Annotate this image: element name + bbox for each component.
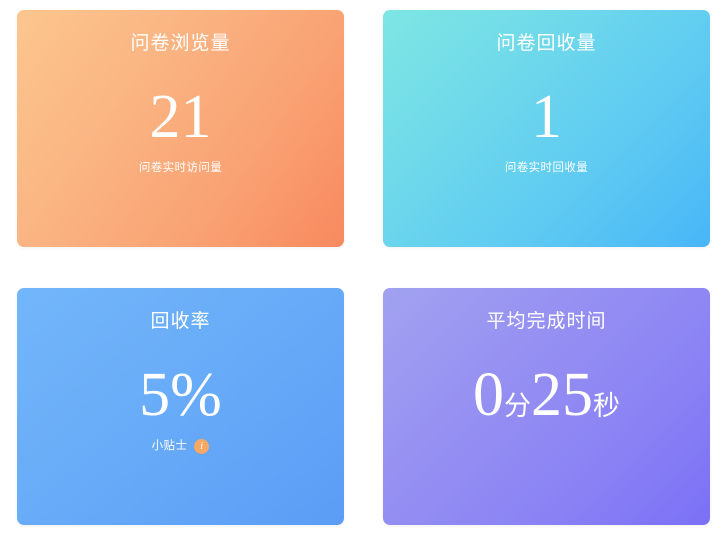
card-unit-seconds: 秒	[593, 391, 620, 421]
card-value-primary: 21	[150, 83, 212, 151]
card-footer: 小贴士 i	[152, 438, 210, 454]
card-title: 平均完成时间	[486, 310, 606, 334]
card-body: 1 问卷实时回收量	[505, 84, 588, 176]
card-footer-label: 问卷实时访问量	[139, 160, 222, 176]
card-value: 1	[531, 84, 562, 150]
stat-card-survey-views[interactable]: 问卷浏览量 21 问卷实时访问量	[17, 10, 344, 247]
card-title: 回收率	[150, 310, 210, 334]
stat-card-survey-responses[interactable]: 问卷回收量 1 问卷实时回收量	[383, 10, 710, 247]
card-footer-label: 小贴士	[152, 438, 188, 454]
stat-card-average-completion-time[interactable]: 平均完成时间 0分25秒	[383, 288, 710, 525]
card-value-minutes: 0	[473, 361, 504, 429]
stat-card-response-rate[interactable]: 回收率 5% 小贴士 i	[17, 288, 344, 525]
card-footer-label: 问卷实时回收量	[505, 160, 588, 176]
card-body: 21 问卷实时访问量	[139, 84, 222, 176]
card-unit-minutes: 分	[504, 391, 531, 421]
card-value: 0分25秒	[473, 362, 620, 428]
card-value: 21	[150, 84, 212, 150]
stats-dashboard: 问卷浏览量 21 问卷实时访问量 问卷回收量 1 问卷实时回收量 回收率 5%	[0, 0, 727, 540]
card-value: 5%	[139, 362, 222, 428]
card-body: 0分25秒	[473, 362, 620, 438]
card-title: 问卷回收量	[496, 32, 596, 56]
card-value-primary: 5%	[139, 361, 222, 429]
card-footer: 问卷实时访问量	[139, 160, 222, 176]
card-value-seconds: 25	[531, 361, 593, 429]
card-body: 5% 小贴士 i	[139, 362, 222, 454]
card-title: 问卷浏览量	[130, 32, 230, 56]
info-icon[interactable]: i	[194, 439, 209, 454]
card-footer: 问卷实时回收量	[505, 160, 588, 176]
card-value-primary: 1	[531, 83, 562, 151]
